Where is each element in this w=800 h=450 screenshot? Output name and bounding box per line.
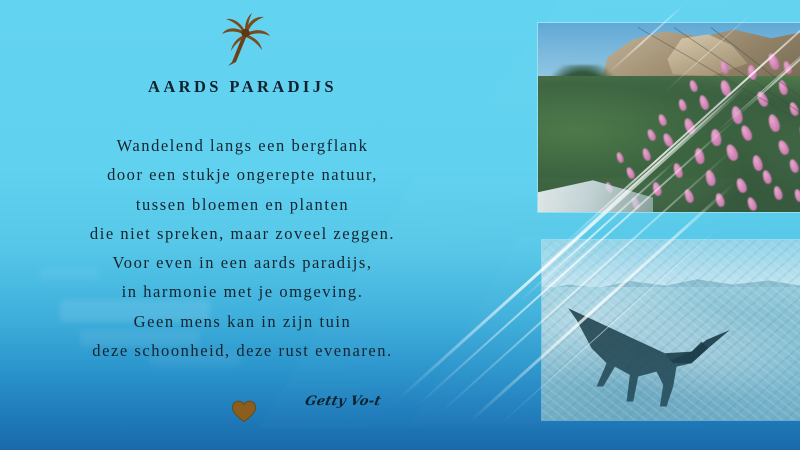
photo-flowers-hillside (538, 23, 800, 212)
photo-dog-valley (542, 240, 800, 420)
flower (739, 124, 754, 142)
poem-line: die niet spreken, maar zoveel zeggen. (0, 219, 485, 248)
flower (787, 158, 799, 174)
photo-flower-cluster (538, 23, 800, 212)
flower (766, 113, 781, 133)
flower (776, 139, 790, 156)
palm-tree-icon (214, 10, 276, 68)
flower (625, 166, 636, 180)
poem-body: Wandelend langs een bergflank door een s… (0, 131, 485, 365)
flower (761, 170, 773, 186)
flower (766, 52, 781, 71)
flower (678, 98, 688, 112)
flower (724, 143, 740, 163)
flower (793, 189, 800, 204)
page-title: AARDS PARADIJS (0, 77, 485, 97)
flower (745, 196, 758, 212)
poem-line: in harmonie met je omgeving. (0, 277, 485, 306)
flower (698, 94, 711, 111)
heart-icon (231, 400, 257, 423)
poem-line: tussen bloemen en planten (0, 190, 485, 219)
poem-line: Wandelend langs een bergflank (0, 131, 485, 160)
flower (672, 162, 684, 179)
flower (714, 192, 726, 208)
flower (646, 128, 657, 142)
poem-line: deze schoonheid, deze rust evenaren. (0, 336, 485, 365)
flower (772, 185, 784, 201)
flower (651, 181, 663, 197)
poem-line: Voor even in een aards paradijs, (0, 248, 485, 277)
flower (641, 147, 652, 162)
flower (735, 177, 749, 194)
flower (730, 105, 744, 125)
poem-line: Geen mens kan in zijn tuin (0, 307, 485, 336)
flower (661, 132, 674, 148)
flower (688, 79, 699, 93)
flower (710, 128, 723, 146)
flower (657, 113, 668, 127)
flower (683, 188, 695, 204)
photo-haze-overlay (542, 240, 800, 420)
poem-line: door een stukje ongerepte natuur, (0, 160, 485, 189)
flower (694, 147, 706, 165)
flower (682, 116, 696, 134)
signature: Getty Vo-t (301, 394, 384, 409)
flower (751, 154, 764, 172)
slide-canvas: AARDS PARADIJS Wandelend langs een bergf… (0, 0, 800, 450)
flower (615, 151, 624, 163)
flower (704, 170, 717, 188)
flower (782, 60, 793, 75)
